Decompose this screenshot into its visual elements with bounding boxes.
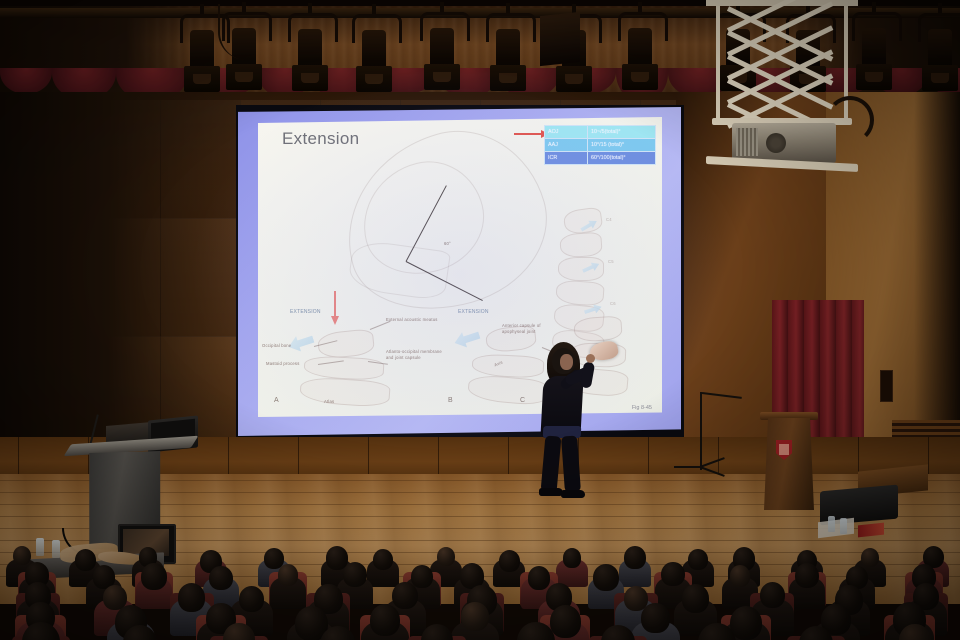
- audience-member-head: [861, 548, 879, 567]
- spotlight-lens-icon: [301, 73, 319, 83]
- audience-member-head: [392, 582, 418, 609]
- spotlight-lens-icon: [631, 72, 649, 82]
- slide-title: Extension: [282, 129, 359, 149]
- spotlight-lens-icon: [931, 73, 949, 83]
- extension-label-a: EXTENSION: [290, 309, 321, 315]
- audience-member-head: [461, 602, 488, 631]
- wall-shadow-left: [0, 92, 240, 462]
- presenter-hand: [586, 354, 595, 363]
- presenter-shoe-left: [539, 488, 563, 496]
- audience: [0, 530, 960, 640]
- joint-name: AAJ: [545, 139, 588, 152]
- presentation-slide: Extension 60° C4 C5 C6: [258, 117, 662, 417]
- audience-member-head: [178, 583, 206, 612]
- table-row: ICR 60°/100(total)°: [545, 152, 656, 165]
- spotlight-lens-icon: [365, 74, 383, 84]
- audience-member-head: [75, 549, 96, 571]
- spotlight-lens-icon: [499, 73, 517, 83]
- presenter-shoe-right: [561, 490, 585, 498]
- projection-screen: Extension 60° C4 C5 C6: [238, 107, 681, 436]
- projector-vent: [736, 128, 758, 156]
- audience-member-head: [278, 564, 299, 586]
- audience-member-head: [239, 586, 264, 612]
- projector-scissor-lift: [706, 0, 858, 172]
- audience-member-head: [795, 563, 819, 588]
- figure-caption: Fig 8-45: [632, 405, 652, 411]
- audience-member-head: [343, 562, 367, 587]
- vertebra-sketch: [558, 257, 604, 281]
- presenter-face: [560, 354, 573, 370]
- lift-post-left: [716, 6, 720, 124]
- presenter-leg-left: [541, 435, 562, 492]
- occipital-bone-label: Occipital bone: [262, 343, 291, 348]
- joint-name: ICR: [545, 152, 588, 165]
- lecture-hall-photo: Extension 60° C4 C5 C6: [0, 0, 960, 640]
- mic-tripod-base: [676, 462, 726, 472]
- vertebra-sketch: [555, 279, 605, 306]
- blue-arrow-icon: [452, 327, 482, 350]
- table-row: AAJ 10°/15 (total)°: [545, 139, 656, 152]
- range-of-motion-table: AOJ 10~/5(total)° AAJ 10°/15 (total)° IC…: [544, 125, 656, 165]
- spotlight-lens-icon: [865, 72, 883, 82]
- presenter: [532, 340, 598, 505]
- external-acoustic-meatus-label: External acoustic meatus: [386, 317, 438, 322]
- atlanto-occipital-label: Atlanto-occipital membrane and joint cap…: [386, 349, 442, 360]
- wooden-lectern: [764, 418, 814, 510]
- vertebra-label-c4: C4: [606, 217, 612, 222]
- spotlight-lens-icon: [193, 74, 211, 84]
- joint-range: 60°/100(total)°: [588, 152, 656, 165]
- joint-range: 10~/5(total)°: [588, 126, 656, 139]
- audience-member-head: [437, 547, 455, 566]
- joint-name: AOJ: [545, 126, 588, 139]
- mic-stand-pole: [700, 392, 702, 470]
- audience-member-head: [411, 565, 433, 588]
- audience-member-head: [528, 566, 550, 590]
- spotlight-lens-icon: [565, 74, 583, 84]
- audience-member-head: [682, 584, 710, 613]
- mastoid-process-label: Mastoid process: [266, 361, 300, 366]
- presenter-forearm: [580, 361, 595, 389]
- wall-sign: [880, 370, 893, 402]
- vertebra-sketch: [563, 206, 604, 235]
- red-arrow-right-icon: [514, 133, 548, 135]
- audience-member-head: [593, 564, 619, 591]
- crest-inner: [779, 444, 789, 455]
- scissor-mechanism: [728, 6, 838, 124]
- hanging-speaker: [540, 12, 580, 66]
- audience-member-head: [209, 566, 232, 590]
- mic-tripod-leg: [674, 466, 700, 468]
- ceiling-projector: [732, 123, 836, 163]
- joint-range: 10°/15 (total)°: [588, 139, 656, 152]
- audience-member-head: [141, 563, 167, 590]
- audience-member-head: [563, 548, 582, 568]
- axis-sketch: [299, 376, 391, 408]
- projector-cable: [826, 96, 874, 144]
- presenter-legs: [541, 436, 583, 498]
- audience-member-head: [13, 546, 31, 565]
- anterior-capsule-label: Anterior capsule of apophyseal joint: [502, 323, 554, 334]
- table-row: AOJ 10~/5(total)°: [545, 126, 656, 139]
- atlas-label: Atlas: [324, 399, 334, 404]
- spotlight-lens-icon: [433, 72, 451, 82]
- spotlight-lens-icon: [235, 72, 253, 82]
- audience-member-head: [730, 565, 751, 587]
- vertebra-label-c6: C6: [610, 301, 616, 306]
- projector-lens-icon: [766, 133, 786, 153]
- audience-member-head: [641, 603, 669, 633]
- vertebra-sketch: [573, 315, 623, 342]
- audience-member-head: [550, 605, 582, 638]
- vertebra-sketch: [559, 232, 603, 259]
- panel-letter-a: A: [274, 397, 279, 404]
- audience-member-head: [661, 562, 684, 586]
- vertebra-label-c5: C5: [608, 259, 614, 264]
- audience-member-head: [373, 549, 393, 570]
- extension-label-b: EXTENSION: [458, 309, 489, 315]
- atlas-sketch: [303, 355, 384, 381]
- audience-member-head: [688, 549, 708, 570]
- audience-member-head: [760, 582, 785, 608]
- audience-member-head: [499, 550, 520, 572]
- panel-letter-b: B: [448, 397, 453, 404]
- curtain-swag: [0, 68, 52, 94]
- audience-member-head: [370, 604, 400, 636]
- audience-member-head: [624, 546, 646, 569]
- presenter-leg-right: [561, 436, 581, 493]
- panel-letter-c: C: [520, 397, 525, 404]
- angle-value-label: 60°: [444, 241, 451, 246]
